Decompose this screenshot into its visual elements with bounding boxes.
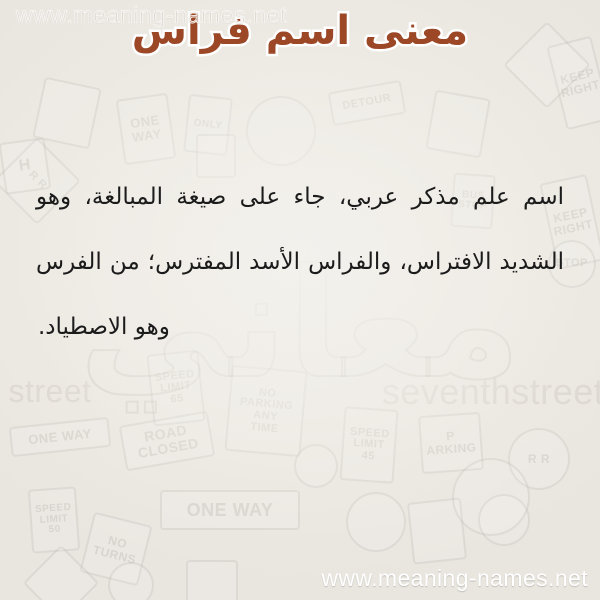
name-meaning-text: اسم علم مذكر عربي، جاء على صيغة المبالغة… — [36, 186, 564, 381]
sign-turn-arrow-topleft — [32, 77, 102, 150]
sign-one-way-right-bottom: ONE WAY — [160, 490, 300, 530]
sign-restroom-top — [196, 134, 236, 178]
sign-x-circle-bottom — [478, 494, 530, 546]
meaning-line-text: وهو الاصطياد. — [38, 316, 170, 339]
sign-straight-arrow-bottom — [407, 497, 467, 564]
name-meaning-card: KEEP RIGHTONE WAYONLYDETOURR RHBUS STOPK… — [0, 0, 600, 600]
watermark-bottom: www.meaning-names.net — [321, 565, 588, 592]
sign-arrow-circle-mid — [294, 444, 338, 488]
sign-pedestrian-bottom — [23, 545, 99, 600]
meaning-line-text: اسم علم مذكر عربي، جاء على صيغة المبالغة… — [36, 186, 564, 209]
sign-speed-limit-50: SPEED LIMIT 50 — [28, 486, 80, 553]
page-title: معنى اسم فراس — [0, 8, 600, 54]
sign-detour-top: DETOUR — [328, 80, 407, 126]
sign-road-closed: ROAD CLOSED — [119, 411, 216, 472]
sign-one-way-topleft: ONE WAY — [116, 93, 177, 166]
sign-only-lane-top: ONLY — [183, 94, 233, 156]
meaning-line: وهو الاصطياد. — [36, 316, 564, 381]
meaning-line: الشديد الافتراس، والفراس الأسد المفترس؛ … — [36, 251, 564, 316]
meaning-line-text: الشديد الافتراس، والفراس الأسد المفترس؛ … — [36, 251, 564, 274]
sign-arrow-circle-bottom — [108, 562, 154, 600]
sign-bus-bottom — [186, 560, 238, 600]
sign-right-turn-arrow-top — [425, 90, 491, 159]
sign-no-entry-circle-top — [246, 96, 316, 166]
sign-no-turns: NO TURNS — [79, 512, 152, 587]
sign-no-smoking-bottom — [346, 492, 406, 552]
sign-railroad-crossing-right: R R — [508, 428, 570, 490]
sign-arrow-circle-midright — [452, 458, 530, 536]
meaning-line: اسم علم مذكر عربي، جاء على صيغة المبالغة… — [36, 186, 564, 251]
sign-speed-limit-45: SPEED LIMIT 45 — [339, 406, 398, 484]
sign-parking-arrow: P ARKING — [418, 412, 484, 474]
sign-one-way-left-bottom: ONE WAY — [9, 417, 112, 457]
